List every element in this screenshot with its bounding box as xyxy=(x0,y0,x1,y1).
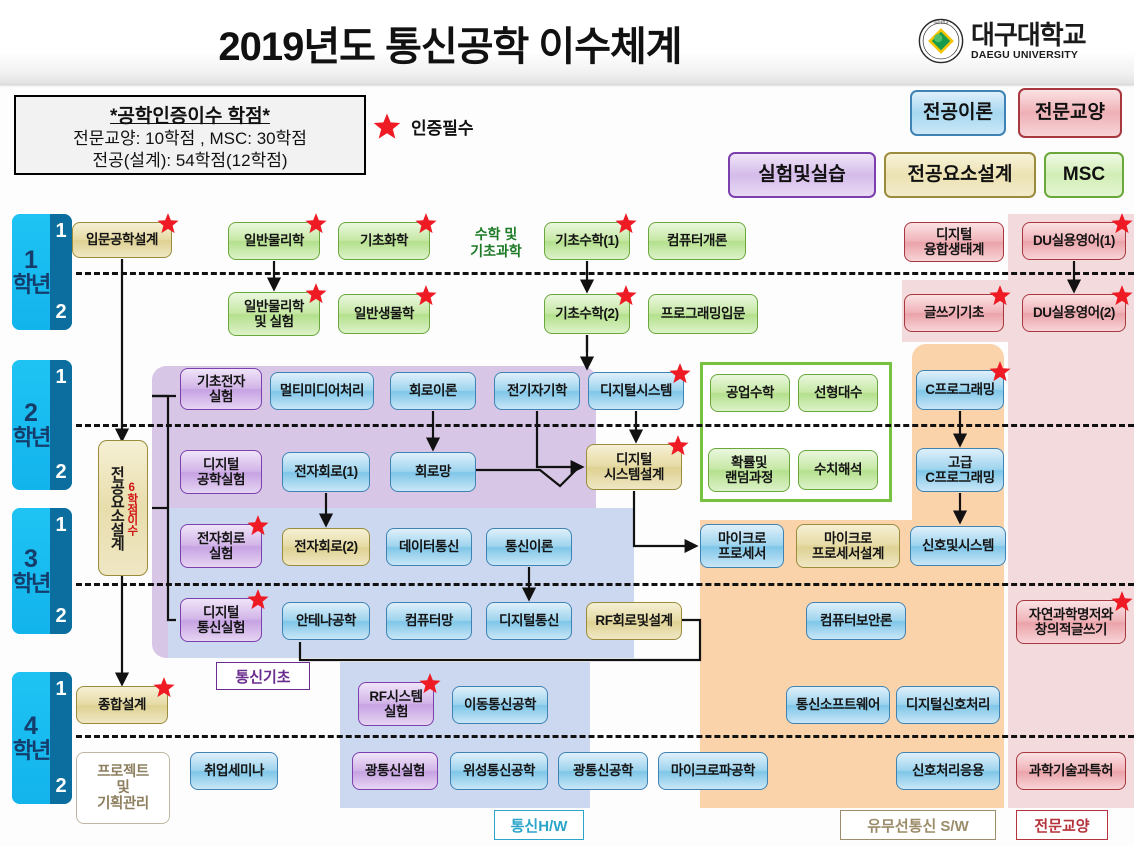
track-tag-label: 전문교양 xyxy=(1034,815,1089,836)
course-node[interactable]: 마이크로프로세서 xyxy=(700,524,784,568)
course-node[interactable]: DU실용영어(1) xyxy=(1022,222,1126,260)
course-label: 멀티미디어처리 xyxy=(280,383,364,398)
svg-text:대구대학교: 대구대학교 xyxy=(934,20,949,25)
course-label: DU실용영어(2) xyxy=(1033,305,1115,320)
course-node[interactable]: 수치해석 xyxy=(798,450,878,490)
semester-divider-4 xyxy=(76,735,1134,738)
course-label: 전자회로실험 xyxy=(197,531,245,561)
course-node[interactable]: 컴퓨터망 xyxy=(386,602,472,640)
track-tag-label: 유무선통신 S/W xyxy=(867,815,969,836)
course-node[interactable]: 글쓰기기초 xyxy=(904,294,1004,332)
credit-box-line1: 전문교양: 10학점 , MSC: 30학점 xyxy=(16,128,364,150)
semester-column-3: 12 xyxy=(50,508,72,634)
course-label: 디지털신호처리 xyxy=(906,697,990,712)
course-label: DU실용영어(1) xyxy=(1033,233,1115,248)
course-label: 신호및시스템 xyxy=(922,538,994,553)
year-strip-1: 1학년12 xyxy=(12,214,72,330)
logo-text-block: 대구대학교 DAEGU UNIVERSITY xyxy=(971,22,1086,61)
course-label: 선형대수 xyxy=(814,385,862,400)
course-node[interactable]: 회로망 xyxy=(390,452,476,492)
semester-1: 1 xyxy=(55,678,66,701)
course-node[interactable]: 일반물리학및 실험 xyxy=(228,292,320,336)
course-node[interactable]: RF시스템실험 xyxy=(358,682,434,726)
course-node[interactable]: 신호처리응용 xyxy=(896,752,1000,790)
credit-box-title: *공학인증이수 학점* xyxy=(16,101,364,128)
course-node[interactable]: 전자회로(1) xyxy=(282,452,370,492)
semester-1: 1 xyxy=(55,514,66,537)
semester-1: 1 xyxy=(55,366,66,389)
year-strip-2: 2학년12 xyxy=(12,360,72,490)
logo-korean: 대구대학교 xyxy=(971,22,1086,48)
course-node[interactable]: 프로그래밍입문 xyxy=(648,294,758,334)
course-label: 자연과학명저와창의적글쓰기 xyxy=(1029,607,1113,637)
course-label: 마이크로프로세서 xyxy=(718,531,766,561)
course-label: 수치해석 xyxy=(814,462,862,477)
course-node[interactable]: 디지털공학실험 xyxy=(180,450,262,494)
course-node[interactable]: 확률및랜덤과정 xyxy=(708,448,790,492)
course-label: 디지털공학실험 xyxy=(197,457,245,487)
course-label: 고급C프로그래밍 xyxy=(925,455,994,485)
course-label: 컴퓨터보안론 xyxy=(820,613,892,628)
semester-2: 2 xyxy=(55,605,66,628)
course-label: 전자회로(2) xyxy=(294,539,357,554)
year-digit: 2 xyxy=(24,401,38,427)
course-node[interactable]: 취업세미나 xyxy=(190,752,278,790)
math-science-line2: 기초과학 xyxy=(470,243,522,259)
course-node[interactable]: 디지털통신 xyxy=(486,602,572,640)
course-label: 이동통신공학 xyxy=(464,697,536,712)
course-node[interactable]: 통신이론 xyxy=(486,528,572,566)
year-strip-3: 3학년12 xyxy=(12,508,72,634)
page-title: 2019년도 통신공학 이수체계 xyxy=(0,14,900,72)
semester-divider-3 xyxy=(76,583,1134,586)
course-label: 종합설계 xyxy=(98,697,146,712)
course-node[interactable]: 컴퓨터개론 xyxy=(648,222,746,260)
course-label: RF시스템실험 xyxy=(369,689,422,719)
major-element-design-vertical-box: 전공요소설계 6학점이수 xyxy=(98,440,148,576)
math-science-group-label: 수학 및 기초과학 xyxy=(444,226,548,260)
course-node[interactable]: 과학기술과특허 xyxy=(1016,752,1126,790)
course-node[interactable]: 회로이론 xyxy=(390,372,476,410)
course-label: 취업세미나 xyxy=(204,763,264,778)
course-label: 공업수학 xyxy=(726,385,774,400)
course-node[interactable]: 멀티미디어처리 xyxy=(270,372,374,410)
course-label: 디지털통신실험 xyxy=(197,605,245,635)
year-number-4: 4학년 xyxy=(12,672,50,804)
track-tag-label: 통신기초 xyxy=(235,666,290,687)
track-tag-label: 통신H/W xyxy=(511,815,568,836)
semester-2: 2 xyxy=(55,301,66,324)
year-digit: 4 xyxy=(24,714,38,740)
course-label: 마이크로파공학 xyxy=(671,763,755,778)
semester-divider-2 xyxy=(76,424,1134,427)
course-label: 통신소프트웨어 xyxy=(796,697,880,712)
course-label: 안테나공학 xyxy=(296,613,356,628)
course-label: 디지털시스템 xyxy=(600,383,672,398)
course-node[interactable]: 기초화학 xyxy=(338,222,430,260)
course-node[interactable]: 기초수학(2) xyxy=(544,294,630,334)
course-label: 전기자기학 xyxy=(507,383,567,398)
course-node[interactable]: 기초전자실험 xyxy=(180,368,262,410)
semester-column-2: 12 xyxy=(50,360,72,490)
course-node[interactable]: 전기자기학 xyxy=(494,372,580,410)
course-node[interactable]: 디지털통신실험 xyxy=(180,598,262,642)
legend-chip-theory: 전공이론 xyxy=(910,90,1006,136)
course-node[interactable]: 안테나공학 xyxy=(282,602,370,640)
course-node[interactable]: 마이크로프로세서설계 xyxy=(796,524,900,568)
legend-chip-label: MSC xyxy=(1063,165,1105,186)
course-node[interactable]: 디지털시스템설계 xyxy=(586,444,682,490)
course-node[interactable]: 컴퓨터보안론 xyxy=(806,602,906,640)
course-label: 확률및랜덤과정 xyxy=(725,455,773,485)
legend-chip-label: 전공요소설계 xyxy=(908,165,1013,186)
star-icon xyxy=(372,112,402,141)
legend-chip-label: 전공이론 xyxy=(923,103,993,124)
semester-1: 1 xyxy=(55,220,66,243)
course-node[interactable]: 입문공학설계 xyxy=(72,222,172,258)
course-label: 일반물리학 xyxy=(244,233,304,248)
course-label: 기초전자실험 xyxy=(197,374,245,404)
semester-column-1: 12 xyxy=(50,214,72,330)
course-label: 입문공학설계 xyxy=(86,232,158,247)
course-node[interactable]: RF회로및설계 xyxy=(586,602,682,640)
course-label: 회로망 xyxy=(415,464,451,479)
course-node[interactable]: 선형대수 xyxy=(798,374,878,412)
course-node[interactable]: 디지털융합생태계 xyxy=(904,222,1004,262)
university-logo: 대구대학교 대구대학교 DAEGU UNIVERSITY xyxy=(918,18,1086,64)
year-number-2: 2학년 xyxy=(12,360,50,490)
course-label: 디지털통신 xyxy=(499,613,559,628)
year-suffix: 학년 xyxy=(13,740,49,762)
track-tag: 통신기초 xyxy=(216,662,310,690)
track-tag: 전문교양 xyxy=(1016,810,1108,840)
semester-column-4: 12 xyxy=(50,672,72,804)
course-node[interactable]: DU실용영어(2) xyxy=(1022,294,1126,332)
course-node[interactable]: 기초수학(1) xyxy=(544,222,630,260)
course-node[interactable]: 이동통신공학 xyxy=(452,686,548,724)
year-digit: 3 xyxy=(24,547,38,573)
course-label: 프로젝트및기획관리 xyxy=(97,764,149,813)
semester-2: 2 xyxy=(55,461,66,484)
course-node[interactable]: 디지털시스템 xyxy=(588,372,684,410)
year-suffix: 학년 xyxy=(13,573,49,595)
course-label: 디지털융합생태계 xyxy=(924,227,984,257)
course-node[interactable]: 일반물리학 xyxy=(228,222,320,260)
course-node[interactable]: 고급C프로그래밍 xyxy=(916,448,1004,492)
legend-chip-msc: MSC xyxy=(1044,152,1124,198)
course-node[interactable]: C프로그래밍 xyxy=(916,370,1004,410)
course-label: 컴퓨터망 xyxy=(405,613,453,628)
logo-english: DAEGU UNIVERSITY xyxy=(971,50,1086,61)
major-element-design-credit: 6학점이수 xyxy=(125,482,137,535)
course-label: 신호처리응용 xyxy=(912,763,984,778)
year-suffix: 학년 xyxy=(13,427,49,449)
course-node[interactable]: 전자회로실험 xyxy=(180,524,262,568)
course-label: 회로이론 xyxy=(409,383,457,398)
year-strip-4: 4학년12 xyxy=(12,672,72,804)
credit-box-line2: 전공(설계): 54학점(12학점) xyxy=(16,150,364,172)
year-suffix: 학년 xyxy=(13,274,49,296)
course-node[interactable]: 통신소프트웨어 xyxy=(786,686,890,724)
semester-divider-1 xyxy=(76,272,1134,275)
course-node[interactable]: 디지털신호처리 xyxy=(896,686,1000,724)
course-node[interactable]: 신호및시스템 xyxy=(910,526,1006,566)
course-label: 기초화학 xyxy=(360,233,408,248)
course-label: 프로그래밍입문 xyxy=(661,306,745,321)
course-node[interactable]: 종합설계 xyxy=(76,686,168,724)
course-label: 일반생물학 xyxy=(354,306,414,321)
year-number-1: 1학년 xyxy=(12,214,50,330)
year-number-3: 3학년 xyxy=(12,508,50,634)
course-label: 기초수학(1) xyxy=(555,233,618,248)
course-node[interactable]: 프로젝트및기획관리 xyxy=(76,752,170,824)
semester-2: 2 xyxy=(55,775,66,798)
math-science-line1: 수학 및 xyxy=(475,226,518,242)
course-label: 일반물리학및 실험 xyxy=(244,299,304,329)
star-legend-label: 인증필수 xyxy=(411,114,474,139)
course-node[interactable]: 위성통신공학 xyxy=(450,752,548,790)
course-label: 컴퓨터개론 xyxy=(667,233,727,248)
star-legend: 인증필수 xyxy=(372,112,474,141)
course-label: 데이터통신 xyxy=(399,539,459,554)
daegu-university-emblem-icon: 대구대학교 xyxy=(918,18,964,64)
legend-chip-lib: 전문교양 xyxy=(1018,88,1122,138)
course-label: C프로그래밍 xyxy=(925,382,994,397)
course-node[interactable]: 자연과학명저와창의적글쓰기 xyxy=(1016,600,1126,644)
course-label: 과학기술과특허 xyxy=(1029,763,1113,778)
course-label: 광통신실험 xyxy=(365,763,425,778)
course-label: 광통신공학 xyxy=(573,763,633,778)
legend-chip-label: 전문교양 xyxy=(1035,103,1105,124)
legend-chip-design: 전공요소설계 xyxy=(884,152,1036,198)
course-label: 마이크로프로세서설계 xyxy=(812,531,884,561)
track-tag: 유무선통신 S/W xyxy=(840,810,996,840)
legend-chip-lab: 실험및실습 xyxy=(728,152,876,198)
course-label: 통신이론 xyxy=(505,539,553,554)
course-node[interactable]: 공업수학 xyxy=(710,374,790,412)
course-label: 글쓰기기초 xyxy=(924,305,984,320)
course-label: 기초수학(2) xyxy=(555,306,618,321)
course-label: 위성통신공학 xyxy=(463,763,535,778)
course-node[interactable]: 일반생물학 xyxy=(338,294,430,334)
course-node[interactable]: 전자회로(2) xyxy=(282,528,370,566)
course-label: 디지털시스템설계 xyxy=(604,452,664,482)
course-node[interactable]: 데이터통신 xyxy=(386,528,472,566)
course-node[interactable]: 마이크로파공학 xyxy=(658,752,768,790)
legend-chip-label: 실험및실습 xyxy=(758,165,845,186)
course-node[interactable]: 광통신공학 xyxy=(558,752,648,790)
track-tag: 통신H/W xyxy=(494,810,584,840)
credit-requirement-box: *공학인증이수 학점* 전문교양: 10학점 , MSC: 30학점 전공(설계… xyxy=(14,95,366,175)
curriculum-diagram: 2019년도 통신공학 이수체계 대구대학교 대구대학교 DAEGU UNIVE… xyxy=(0,0,1134,846)
major-element-design-label: 전공요소설계 xyxy=(109,466,124,550)
course-label: 전자회로(1) xyxy=(294,464,357,479)
course-node[interactable]: 광통신실험 xyxy=(352,752,438,790)
course-label: RF회로및설계 xyxy=(595,613,672,628)
year-digit: 1 xyxy=(24,248,38,274)
